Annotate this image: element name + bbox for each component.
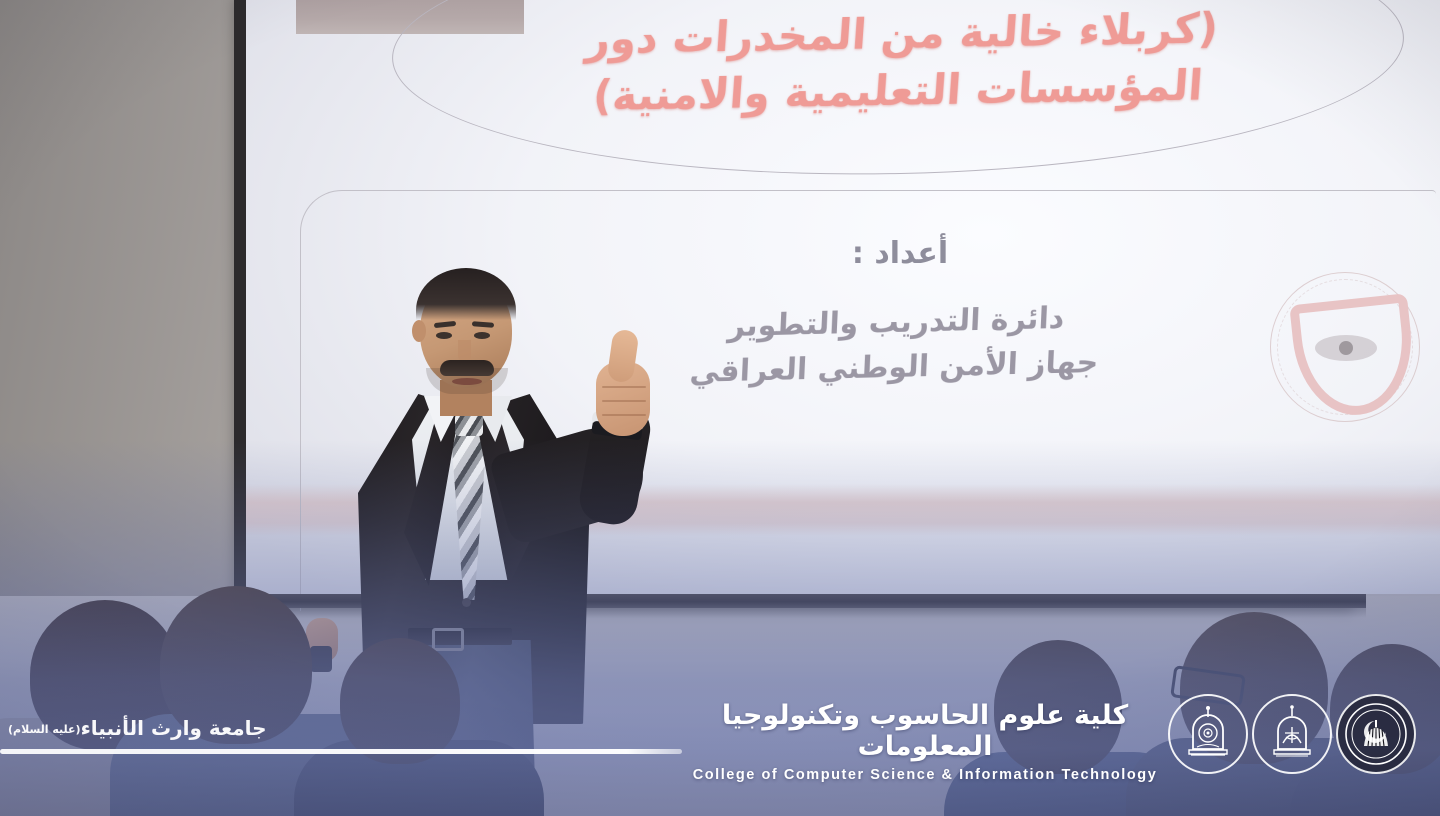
watermark-suffix-text: (عليه السلام)	[8, 723, 81, 736]
audience-head	[340, 638, 460, 764]
watermark-main-text: جامعة وارث الأنبياء	[81, 716, 267, 740]
logo-row	[1168, 688, 1424, 782]
presenter-finger-line-3	[602, 414, 646, 416]
college-branding: كلية علوم الحاسوب وتكنولوجيا المعلومات C…	[690, 700, 1160, 783]
presenter-finger-line-2	[602, 400, 646, 402]
eye-pupil	[1339, 341, 1353, 355]
warith-al-anbiyaa-university-seal-2	[1252, 694, 1332, 774]
presenter-ear	[412, 320, 426, 342]
university-watermark: جامعة وارث الأنبياء(عليه السلام)	[8, 716, 267, 740]
presenter-eye-left	[436, 332, 452, 339]
presenter-tie-knot	[455, 414, 483, 436]
presenter-hair	[416, 268, 516, 320]
presenter-moustache	[440, 360, 494, 376]
slide-body-text: دائرة التدريب والتطوير جهاز الأمن الوطني…	[658, 294, 1133, 395]
iraqi-national-security-service-emblem	[1270, 272, 1420, 422]
presenter-eye-right	[474, 332, 490, 339]
presenter-finger-line-1	[602, 386, 646, 388]
presenter-nose	[458, 340, 471, 362]
college-name-english: College of Computer Science & Informatio…	[690, 767, 1160, 783]
slide-prepared-by-label: أعداد :	[700, 236, 1100, 271]
college-name-arabic: كلية علوم الحاسوب وتكنولوجيا المعلومات	[690, 700, 1160, 762]
presenter-mouth	[452, 378, 482, 385]
presenter-jacket-button	[462, 598, 471, 607]
ministry-of-higher-education-seal	[1336, 694, 1416, 774]
photo-canvas: (كربلاء خالية من المخدرات دور المؤسسات ا…	[0, 0, 1440, 816]
warith-al-anbiyaa-university-seal-1	[1168, 694, 1248, 774]
brand-rule-line	[0, 749, 682, 754]
slide-title: (كربلاء خالية من المخدرات دور المؤسسات ا…	[556, 0, 1245, 125]
audience-member-3	[320, 628, 510, 816]
